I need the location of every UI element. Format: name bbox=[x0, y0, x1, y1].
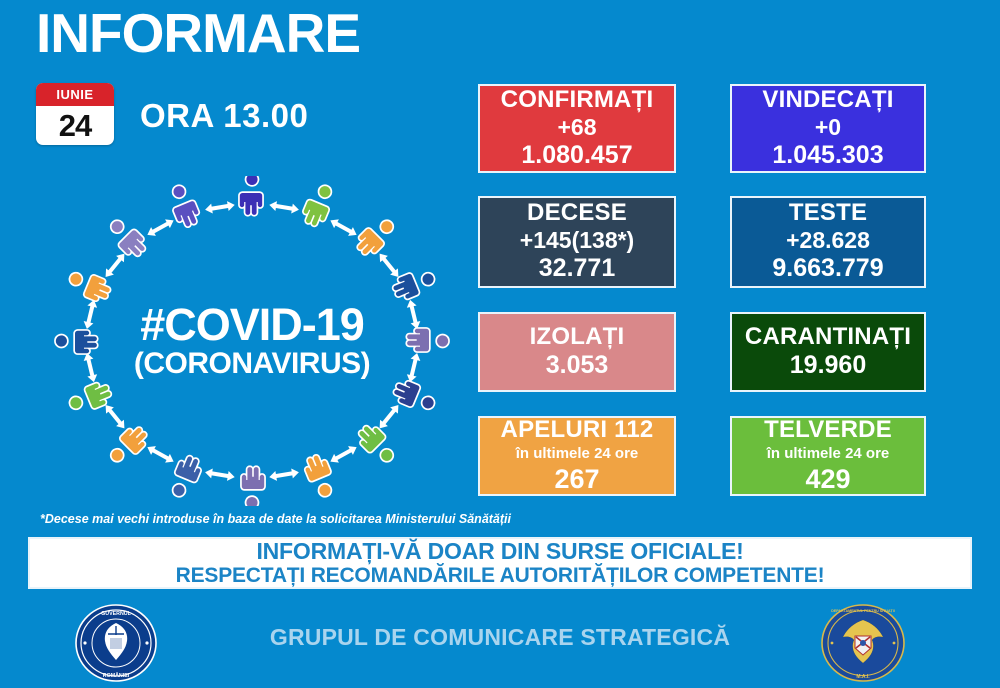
person-figure bbox=[105, 216, 150, 261]
stat-label: IZOLAȚI bbox=[530, 324, 625, 351]
svg-text:DEPARTAMENTUL PENTRU SITUAȚII: DEPARTAMENTUL PENTRU SITUAȚII bbox=[831, 609, 895, 613]
stat-total: 267 bbox=[554, 463, 599, 495]
stat-label: TELVERDE bbox=[764, 417, 892, 444]
stat-total: 9.663.779 bbox=[772, 254, 883, 284]
stat-label: APELURI 112 bbox=[501, 417, 654, 444]
stat-total: 429 bbox=[805, 463, 850, 495]
stat-delta: +0 bbox=[815, 114, 841, 141]
page-title: INFORMARE bbox=[36, 6, 360, 61]
stat-delta: +68 bbox=[557, 114, 596, 141]
person-figure bbox=[353, 214, 398, 259]
stat-card-izolati: IZOLAȚI 3.053 bbox=[478, 312, 676, 392]
informare-infographic: INFORMARE IUNIE 24 ORA 13.00 #COVID-19 (… bbox=[0, 0, 1000, 688]
stat-total: 3.053 bbox=[546, 351, 609, 381]
svg-text:M.A.I.: M.A.I. bbox=[856, 674, 870, 680]
footnote: *Decese mai vechi introduse în baza de d… bbox=[40, 512, 511, 526]
svg-text:ROMÂNIEI: ROMÂNIEI bbox=[103, 672, 130, 679]
person-figure bbox=[391, 378, 438, 414]
stat-delta: +145(138*) bbox=[520, 227, 634, 254]
banner-line-2: RESPECTAȚI RECOMANDĂRILE AUTORITĂȚILOR C… bbox=[176, 564, 825, 587]
stat-card-confirmati: CONFIRMAȚI +68 1.080.457 bbox=[478, 84, 676, 173]
stat-total: 1.045.303 bbox=[772, 141, 883, 171]
calendar-icon: IUNIE 24 bbox=[36, 83, 114, 145]
stat-card-decese: DECESE +145(138*) 32.771 bbox=[478, 196, 676, 288]
dsu-mai-seal-icon: DEPARTAMENTUL PENTRU SITUAȚII M.A.I. bbox=[820, 603, 906, 683]
person-figure bbox=[106, 423, 151, 468]
stat-delta: +28.628 bbox=[786, 227, 870, 254]
official-sources-banner: INFORMAȚI-VĂ DOAR DIN SURSE OFICIALE! RE… bbox=[28, 537, 972, 589]
stat-total: 32.771 bbox=[539, 254, 615, 284]
stat-label: DECESE bbox=[527, 200, 627, 227]
calendar-month: IUNIE bbox=[36, 83, 114, 106]
person-figure bbox=[66, 268, 113, 304]
stat-label: CONFIRMAȚI bbox=[501, 87, 654, 114]
stat-card-teste: TESTE +28.628 9.663.779 bbox=[730, 196, 926, 288]
person-figure bbox=[242, 467, 264, 506]
person-figure bbox=[354, 422, 399, 467]
stat-label: TESTE bbox=[789, 200, 867, 227]
stat-sublabel: în ultimele 24 ore bbox=[516, 445, 639, 462]
stat-sublabel: în ultimele 24 ore bbox=[767, 445, 890, 462]
person-figure bbox=[56, 331, 97, 353]
stat-card-carantinati: CARANTINAȚI 19.960 bbox=[730, 312, 926, 392]
stat-card-vindecati: VINDECAȚI +0 1.045.303 bbox=[730, 84, 926, 173]
stat-total: 1.080.457 bbox=[521, 141, 632, 171]
person-figure bbox=[240, 176, 262, 215]
person-figure bbox=[407, 329, 448, 351]
calendar-day: 24 bbox=[36, 106, 114, 145]
svg-text:GUVERNUL: GUVERNUL bbox=[101, 611, 131, 617]
stat-card-apeluri-112: APELURI 112 în ultimele 24 ore 267 bbox=[478, 416, 676, 496]
stat-label: VINDECAȚI bbox=[762, 87, 893, 114]
stat-card-telverde: TELVERDE în ultimele 24 ore 429 bbox=[730, 416, 926, 496]
covid-ring-graphic: #COVID-19 (CORONAVIRUS) bbox=[42, 176, 462, 506]
banner-line-1: INFORMAȚI-VĂ DOAR DIN SURSE OFICIALE! bbox=[256, 539, 743, 564]
stat-label: CARANTINAȚI bbox=[745, 324, 911, 351]
stat-total: 19.960 bbox=[790, 351, 866, 381]
report-hour: ORA 13.00 bbox=[140, 97, 308, 135]
